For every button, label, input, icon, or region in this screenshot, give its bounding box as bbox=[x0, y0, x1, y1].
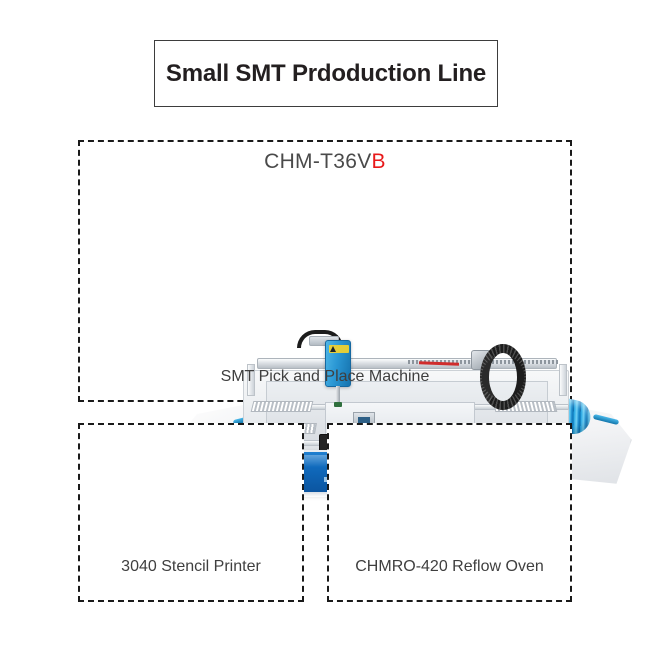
page-title: Small SMT Prdoduction Line bbox=[166, 60, 486, 88]
left-feeder-comb-upper bbox=[251, 401, 314, 412]
caption-stencil-printer: 3040 Stencil Printer bbox=[80, 558, 302, 576]
panel-pick-and-place[interactable]: CHM-T36VB bbox=[78, 140, 572, 402]
product-code-prefix: CHM-T36V bbox=[264, 150, 371, 173]
product-code-suffix: B bbox=[372, 150, 386, 173]
poster-root: Small SMT Prdoduction Line CHM-T36VB bbox=[0, 0, 650, 650]
caption-pick-and-place: SMT Pick and Place Machine bbox=[80, 368, 570, 386]
product-code: CHM-T36VB bbox=[80, 150, 570, 174]
caption-reflow-oven: CHMRO-420 Reflow Oven bbox=[329, 558, 570, 576]
warning-label-icon bbox=[329, 345, 349, 353]
panel-reflow-oven[interactable]: CHMRO-420 Reflow Oven bbox=[327, 423, 572, 602]
pick-nozzle-stem bbox=[336, 386, 340, 404]
title-box: Small SMT Prdoduction Line bbox=[154, 40, 498, 107]
panel-stencil-printer[interactable]: 3040 Stencil Printer bbox=[78, 423, 304, 602]
